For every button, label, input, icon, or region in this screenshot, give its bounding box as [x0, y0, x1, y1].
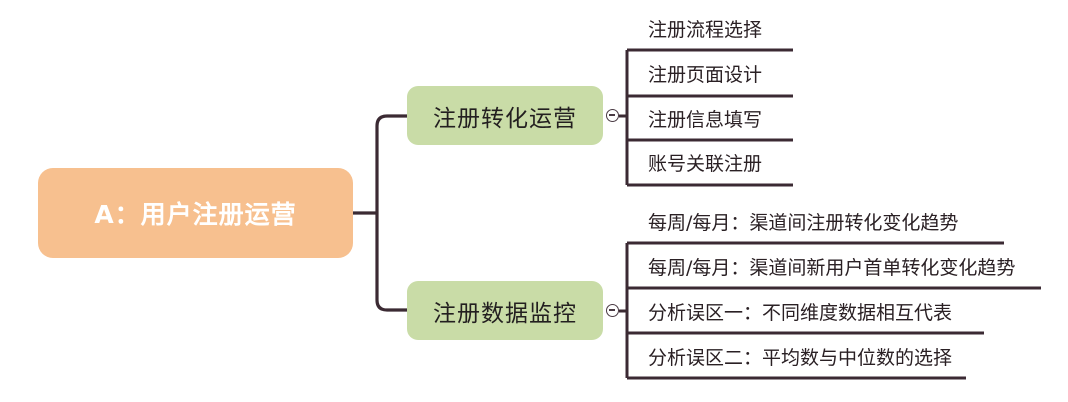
leaf-item[interactable]: 账号关联注册 — [648, 152, 762, 176]
minus-glyph — [609, 114, 615, 116]
leaf-item-label: 分析误区一：不同维度数据相互代表 — [648, 301, 952, 325]
root-to-branches-line — [377, 116, 407, 310]
leaf-item[interactable]: 注册页面设计 — [648, 63, 762, 87]
root-node[interactable]: A：用户注册运营 — [38, 168, 353, 258]
leaf-item[interactable]: 注册信息填写 — [648, 108, 762, 132]
leaf-item-label: 注册流程选择 — [648, 18, 762, 42]
branch-node-registration-conversion[interactable]: 注册转化运营 — [407, 86, 603, 145]
branch-node-label: 注册数据监控 — [433, 294, 577, 328]
leaf-item[interactable]: 分析误区二：平均数与中位数的选择 — [648, 346, 952, 370]
collapse-minus-icon[interactable] — [606, 304, 619, 317]
leaf-item-label: 每周/每月：渠道间新用户首单转化变化趋势 — [648, 256, 1015, 280]
leaf-item[interactable]: 分析误区一：不同维度数据相互代表 — [648, 301, 952, 325]
branch-node-registration-monitoring[interactable]: 注册数据监控 — [407, 281, 603, 340]
leaf-item-label: 每周/每月：渠道间注册转化变化趋势 — [648, 211, 958, 235]
root-node-label: A：用户注册运营 — [94, 195, 296, 231]
leaf-item-label: 注册信息填写 — [648, 108, 762, 132]
mind-map-canvas: A：用户注册运营 注册转化运营 注册数据监控 注册流程选择 注册页面设计 注册信… — [0, 0, 1068, 402]
leaf-item-label: 账号关联注册 — [648, 152, 762, 176]
leaf-item[interactable]: 每周/每月：渠道间新用户首单转化变化趋势 — [648, 256, 1015, 280]
minus-glyph — [609, 309, 615, 311]
collapse-minus-icon[interactable] — [606, 109, 619, 122]
leaf-item[interactable]: 注册流程选择 — [648, 18, 762, 42]
leaf-item-label: 注册页面设计 — [648, 63, 762, 87]
branch-node-label: 注册转化运营 — [433, 99, 577, 133]
leaf-item[interactable]: 每周/每月：渠道间注册转化变化趋势 — [648, 211, 958, 235]
leaf-item-label: 分析误区二：平均数与中位数的选择 — [648, 346, 952, 370]
